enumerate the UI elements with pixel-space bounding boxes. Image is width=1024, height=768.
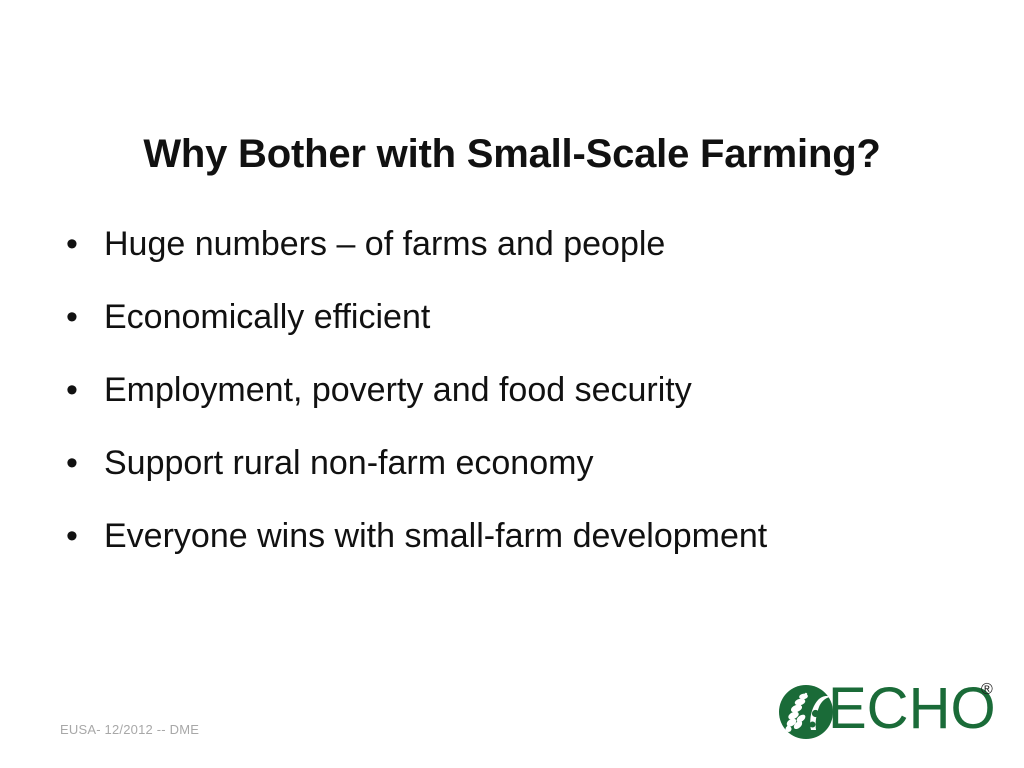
list-item: • Huge numbers – of farms and people (56, 222, 936, 295)
list-item: • Support rural non-farm economy (56, 441, 936, 514)
bullet-point-icon: • (62, 441, 82, 485)
bullet-point-icon: • (62, 295, 82, 339)
registered-trademark-icon: ® (981, 682, 993, 698)
bullet-list: • Huge numbers – of farms and people • E… (56, 222, 936, 587)
slide-canvas: Why Bother with Small-Scale Farming? • H… (0, 0, 1024, 768)
bullet-point-icon: • (62, 222, 82, 266)
echo-leaf-emblem-icon (778, 684, 834, 740)
list-item-label: Employment, poverty and food security (104, 368, 692, 412)
bullet-point-icon: • (62, 368, 82, 412)
list-item-label: Support rural non-farm economy (104, 441, 593, 485)
list-item: • Everyone wins with small-farm developm… (56, 514, 936, 587)
list-item: • Economically efficient (56, 295, 936, 368)
list-item-label: Economically efficient (104, 295, 430, 339)
echo-logo: ECHO ® (778, 676, 998, 748)
list-item-label: Huge numbers – of farms and people (104, 222, 665, 266)
slide-footer-note: EUSA- 12/2012 -- DME (60, 722, 199, 738)
list-item: • Employment, poverty and food security (56, 368, 936, 441)
list-item-label: Everyone wins with small-farm developmen… (104, 514, 767, 558)
bullet-point-icon: • (62, 514, 82, 558)
page-title: Why Bother with Small-Scale Farming? (60, 131, 964, 177)
echo-wordmark: ECHO (828, 678, 996, 740)
